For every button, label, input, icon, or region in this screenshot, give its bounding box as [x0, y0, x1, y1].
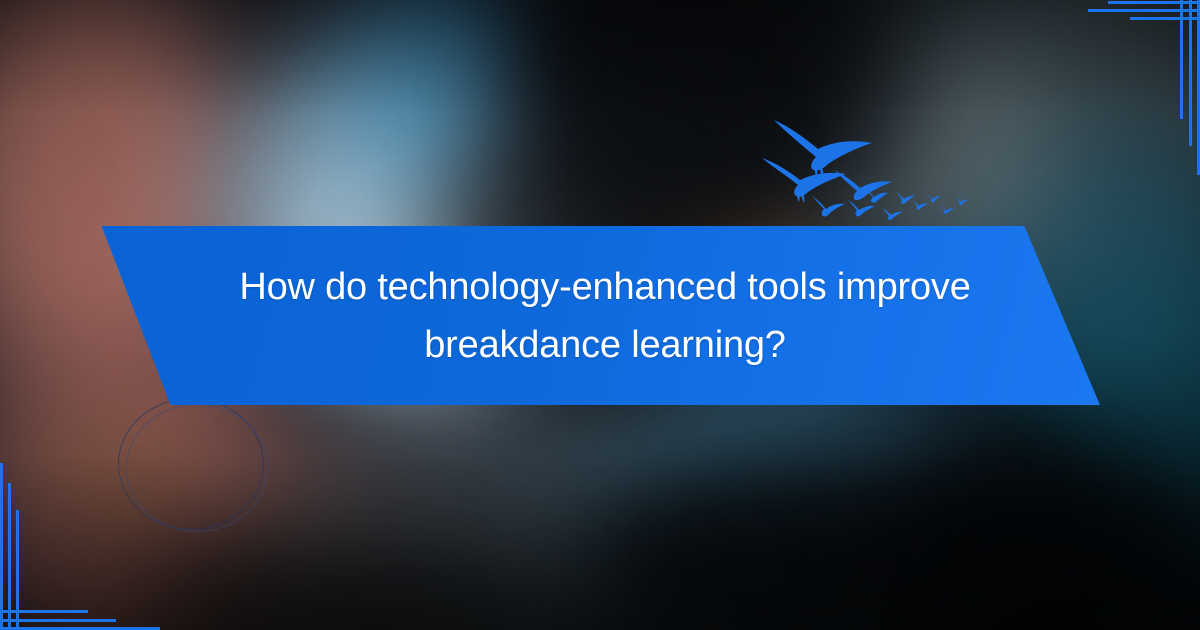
headline-line-2: breakdance learning?: [424, 324, 786, 366]
bird-icon: [848, 200, 875, 217]
bird-flock: [760, 112, 1010, 232]
corner-line-horizontal: [0, 610, 88, 613]
corner-line-horizontal: [1108, 1, 1200, 4]
bird-icon: [956, 198, 968, 205]
corner-line-horizontal: [0, 619, 116, 622]
corner-line-vertical: [0, 463, 3, 630]
ring-outline-icon: [126, 404, 268, 532]
bird-icon: [762, 158, 846, 197]
headline-line-1: How do technology-enhanced tools improve: [239, 266, 970, 308]
bird-icon: [774, 120, 872, 170]
bird-icon: [926, 194, 941, 202]
corner-line-vertical: [1189, 0, 1192, 146]
bird-icon: [940, 206, 954, 214]
share-card: How do technology-enhanced tools improve…: [0, 0, 1200, 630]
corner-line-vertical: [8, 483, 11, 630]
corner-line-vertical: [1180, 0, 1183, 119]
headline-banner: How do technology-enhanced tools improve…: [96, 226, 1104, 405]
bird-icon: [812, 196, 845, 217]
bird-icon: [896, 192, 915, 204]
page-title: How do technology-enhanced tools improve…: [225, 258, 985, 374]
bird-icon: [912, 200, 928, 210]
corner-line-horizontal: [1088, 9, 1200, 12]
bird-icon: [882, 208, 902, 220]
